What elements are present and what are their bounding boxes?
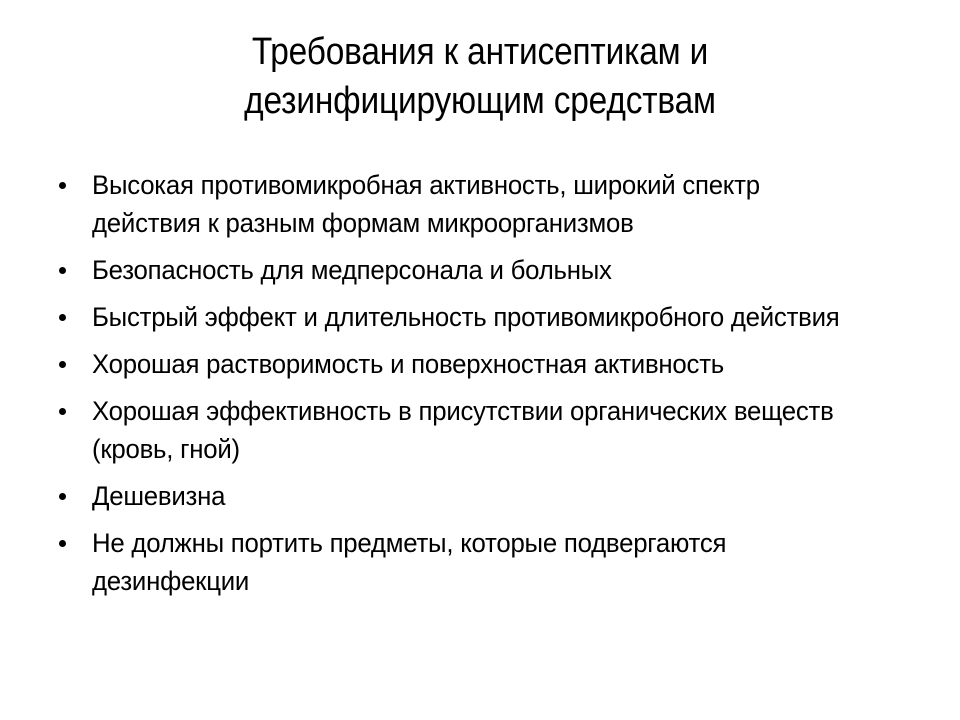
bullet-dot-icon <box>59 408 66 415</box>
list-item: Безопасность для медперсонала и больных <box>52 251 902 289</box>
list-item-text: Не должны портить предметы, которые подв… <box>92 524 866 600</box>
list-item: Быстрый эффект и длительность противомик… <box>52 298 902 336</box>
list-item-text: Высокая противомикробная активность, шир… <box>92 166 866 242</box>
list-item: Не должны портить предметы, которые подв… <box>52 524 902 600</box>
list-item: Хорошая эффективность в присутствии орга… <box>52 392 902 468</box>
bullet-dot-icon <box>59 267 66 274</box>
slide-title-line-2: дезинфицирующим средствам <box>110 77 849 126</box>
list-item: Высокая противомикробная активность, шир… <box>52 166 902 242</box>
bullet-dot-icon <box>59 540 66 547</box>
list-item-text: Безопасность для медперсонала и больных <box>92 251 866 289</box>
bullet-dot-icon <box>59 361 66 368</box>
slide-title: Требования к антисептикам и дезинфицирую… <box>110 28 849 126</box>
list-item: Хорошая растворимость и поверхностная ак… <box>52 345 902 383</box>
list-item-text: Хорошая растворимость и поверхностная ак… <box>92 345 866 383</box>
list-item-text: Хорошая эффективность в присутствии орга… <box>92 392 866 468</box>
bullet-dot-icon <box>59 182 66 189</box>
list-item-text: Дешевизна <box>92 477 866 515</box>
bullet-list: Высокая противомикробная активность, шир… <box>52 166 902 600</box>
presentation-slide: Требования к антисептикам и дезинфицирую… <box>0 0 960 720</box>
list-item: Дешевизна <box>52 477 902 515</box>
slide-title-line-1: Требования к антисептикам и <box>110 28 849 77</box>
bullet-dot-icon <box>59 314 66 321</box>
bullet-dot-icon <box>59 493 66 500</box>
list-item-text: Быстрый эффект и длительность противомик… <box>92 298 866 336</box>
